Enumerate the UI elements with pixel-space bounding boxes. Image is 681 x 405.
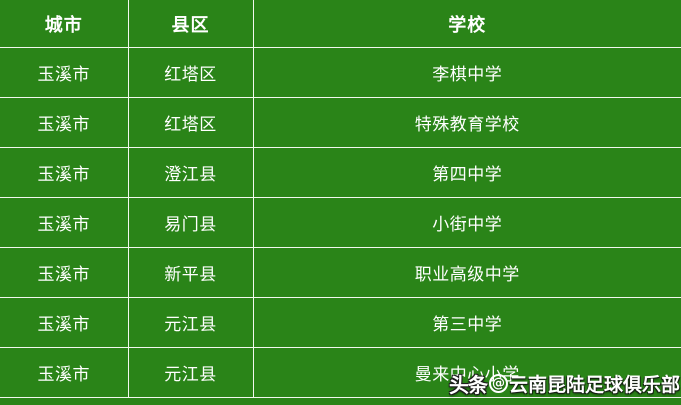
table-row: 玉溪市 红塔区 特殊教育学校 xyxy=(0,98,681,148)
table-header: 城市 县区 学校 xyxy=(0,0,681,48)
cell-city: 玉溪市 xyxy=(0,198,128,248)
table-container: 城市 县区 学校 玉溪市 红塔区 李棋中学 玉溪市 红塔区 特殊教育学校 玉溪市… xyxy=(0,0,681,405)
cell-county: 红塔区 xyxy=(128,48,253,98)
cell-city: 玉溪市 xyxy=(0,298,128,348)
cell-school: 李棋中学 xyxy=(253,48,681,98)
cell-county: 新平县 xyxy=(128,248,253,298)
cell-city: 玉溪市 xyxy=(0,148,128,198)
column-header-school: 学校 xyxy=(253,0,681,48)
table-row: 玉溪市 易门县 小街中学 xyxy=(0,198,681,248)
cell-school: 曼来中心小学 xyxy=(253,348,681,398)
school-list-table: 城市 县区 学校 玉溪市 红塔区 李棋中学 玉溪市 红塔区 特殊教育学校 玉溪市… xyxy=(0,0,681,398)
cell-county: 易门县 xyxy=(128,198,253,248)
cell-school: 第三中学 xyxy=(253,298,681,348)
cell-school: 特殊教育学校 xyxy=(253,98,681,148)
table-row: 玉溪市 新平县 职业高级中学 xyxy=(0,248,681,298)
column-header-city: 城市 xyxy=(0,0,128,48)
table-row: 玉溪市 元江县 第三中学 xyxy=(0,298,681,348)
cell-city: 玉溪市 xyxy=(0,98,128,148)
cell-county: 元江县 xyxy=(128,298,253,348)
table-row: 玉溪市 澄江县 第四中学 xyxy=(0,148,681,198)
cell-city: 玉溪市 xyxy=(0,248,128,298)
cell-school: 第四中学 xyxy=(253,148,681,198)
cell-county: 澄江县 xyxy=(128,148,253,198)
table-header-row: 城市 县区 学校 xyxy=(0,0,681,48)
cell-school: 小街中学 xyxy=(253,198,681,248)
cell-county: 元江县 xyxy=(128,348,253,398)
column-header-county: 县区 xyxy=(128,0,253,48)
cell-county: 红塔区 xyxy=(128,98,253,148)
cell-city: 玉溪市 xyxy=(0,348,128,398)
cell-city: 玉溪市 xyxy=(0,48,128,98)
table-row: 玉溪市 红塔区 李棋中学 xyxy=(0,48,681,98)
cell-school: 职业高级中学 xyxy=(253,248,681,298)
table-row: 玉溪市 元江县 曼来中心小学 xyxy=(0,348,681,398)
table-body: 玉溪市 红塔区 李棋中学 玉溪市 红塔区 特殊教育学校 玉溪市 澄江县 第四中学… xyxy=(0,48,681,398)
